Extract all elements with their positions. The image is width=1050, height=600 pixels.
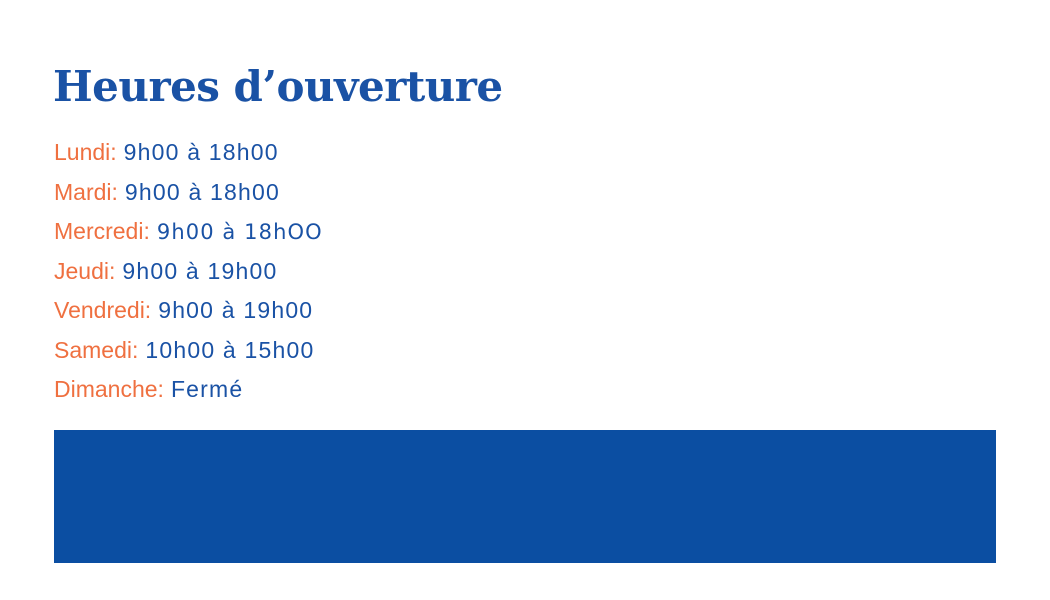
list-item: Mardi:9h00 à 18h00 [54, 173, 674, 213]
day-label-lundi: Lundi: [54, 139, 117, 165]
list-item: Mercredi:9h00 à 18hOO [54, 212, 674, 252]
day-hours-samedi: 10h00 à 15h00 [145, 337, 314, 363]
slide-canvas: Heures d’ouverture Lundi:9h00 à 18h00 Ma… [0, 0, 1050, 600]
list-item: Vendredi:9h00 à 19h00 [54, 291, 674, 331]
list-item: Lundi:9h00 à 18h00 [54, 133, 674, 173]
blue-content-panel [54, 430, 996, 563]
list-item: Dimanche:Fermé [54, 370, 674, 410]
day-label-dimanche: Dimanche: [54, 376, 164, 402]
day-hours-vendredi: 9h00 à 19h00 [158, 297, 313, 323]
day-hours-mercredi: 9h00 à 18hOO [157, 220, 323, 244]
day-label-samedi: Samedi: [54, 337, 138, 363]
day-label-mardi: Mardi: [54, 179, 118, 205]
day-hours-jeudi: 9h00 à 19h00 [122, 258, 277, 284]
day-hours-lundi: 9h00 à 18h00 [124, 139, 279, 165]
opening-hours-list: Lundi:9h00 à 18h00 Mardi:9h00 à 18h00 Me… [54, 133, 674, 410]
day-label-mercredi: Mercredi: [54, 218, 150, 244]
day-label-vendredi: Vendredi: [54, 297, 151, 323]
list-item: Samedi:10h00 à 15h00 [54, 331, 674, 371]
list-item: Jeudi:9h00 à 19h00 [54, 252, 674, 292]
day-hours-mardi: 9h00 à 18h00 [125, 179, 280, 205]
day-label-jeudi: Jeudi: [54, 258, 115, 284]
day-hours-dimanche: Fermé [171, 376, 243, 402]
page-title: Heures d’ouverture [53, 62, 503, 112]
